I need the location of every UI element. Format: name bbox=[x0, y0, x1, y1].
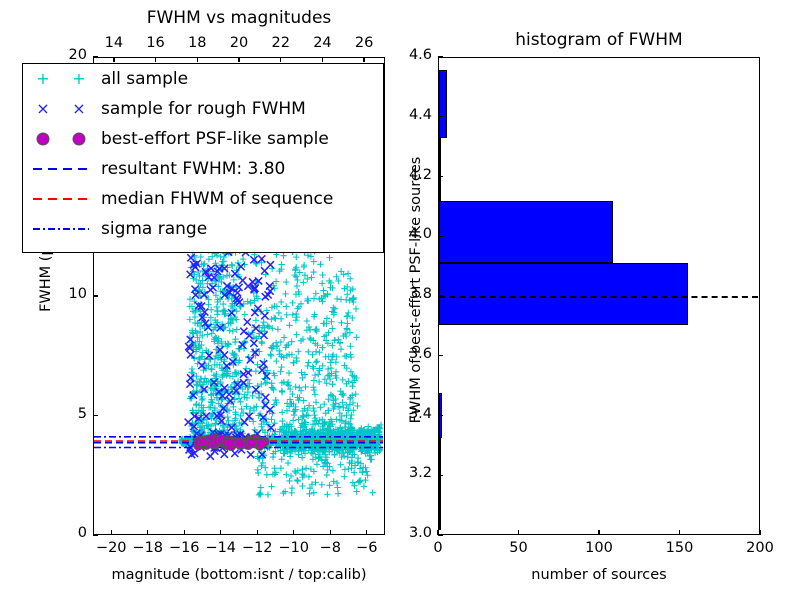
x-tick-top bbox=[363, 57, 364, 62]
right-panel-title: histogram of FWHM bbox=[438, 30, 760, 50]
x-tick-bottom bbox=[257, 530, 258, 535]
histogram-bar bbox=[439, 70, 447, 138]
histogram-bar bbox=[439, 138, 441, 200]
legend: ++all sample××sample for rough FWHMbest-… bbox=[22, 63, 384, 253]
legend-marker-circle-icon bbox=[23, 124, 101, 154]
legend-label: best-effort PSF-like sample bbox=[101, 124, 329, 154]
y-tick-right-panel bbox=[438, 116, 443, 117]
x-tick-label-top: 24 bbox=[300, 35, 344, 51]
y-tick-left bbox=[93, 534, 98, 535]
legend-glyph: + bbox=[36, 71, 49, 87]
x-tick-top bbox=[113, 57, 114, 62]
x-tick-bottom bbox=[184, 530, 185, 535]
y-tick-label-left: 0 bbox=[49, 525, 87, 541]
y-tick-label-right-panel: 3.0 bbox=[390, 525, 432, 541]
left-panel-title: FWHM vs magnitudes bbox=[93, 8, 385, 28]
y-tick-right-panel bbox=[438, 56, 443, 57]
x-tick-label-top: 14 bbox=[92, 35, 136, 51]
y-tick-label-right-panel: 4.0 bbox=[390, 226, 432, 242]
y-tick-right-panel bbox=[438, 176, 443, 177]
legend-glyph bbox=[37, 133, 50, 146]
histogram-bar bbox=[439, 438, 441, 530]
legend-label: sigma range bbox=[101, 214, 207, 244]
legend-marker-dashdot-line-icon bbox=[23, 214, 101, 244]
y-tick-label-right-panel: 3.4 bbox=[390, 406, 432, 422]
x-tick-label-right-panel: 200 bbox=[738, 540, 782, 556]
x-tick-label-right-panel: 100 bbox=[577, 540, 621, 556]
x-tick-top bbox=[280, 57, 281, 62]
y-tick-right-panel bbox=[438, 534, 443, 535]
x-tick-top bbox=[197, 57, 198, 62]
right-histogram-axes bbox=[438, 57, 760, 535]
x-tick-label-top: 16 bbox=[134, 35, 178, 51]
x-tick-right-panel bbox=[598, 530, 599, 535]
legend-glyph: × bbox=[72, 101, 85, 117]
x-tick-bottom bbox=[111, 530, 112, 535]
x-tick-top bbox=[238, 57, 239, 62]
y-tick-left bbox=[93, 56, 98, 57]
x-tick-label-right-panel: 0 bbox=[416, 540, 460, 556]
histogram-data-region bbox=[439, 58, 758, 533]
x-tick-bottom bbox=[147, 530, 148, 535]
x-tick-label-right-panel: 150 bbox=[658, 540, 702, 556]
legend-glyph: × bbox=[36, 101, 49, 117]
y-tick-right-panel bbox=[438, 236, 443, 237]
y-tick-left bbox=[93, 295, 98, 296]
x-tick-bottom bbox=[293, 530, 294, 535]
x-tick-label-top: 22 bbox=[259, 35, 303, 51]
x-tick-label-top: 20 bbox=[217, 35, 261, 51]
legend-item: resultant FWHM: 3.80 bbox=[23, 154, 383, 184]
left-xlabel: magnitude (bottom:isnt / top:calib) bbox=[93, 567, 385, 583]
x-tick-top bbox=[322, 57, 323, 62]
legend-marker-dashed-line-icon bbox=[23, 184, 101, 214]
legend-item: ++all sample bbox=[23, 64, 383, 94]
resultant-fwhm-line bbox=[439, 296, 758, 298]
legend-marker-cross-icon: ×× bbox=[23, 94, 101, 124]
y-tick-label-left: 10 bbox=[49, 286, 87, 302]
x-tick-bottom bbox=[366, 530, 367, 535]
y-tick-label-left: 5 bbox=[49, 406, 87, 422]
x-tick-label-bottom: −6 bbox=[345, 540, 389, 556]
legend-marker-dashed-line-icon bbox=[23, 154, 101, 184]
legend-item: median FHWM of sequence bbox=[23, 184, 383, 214]
y-tick-left bbox=[93, 415, 98, 416]
x-tick-label-right-panel: 50 bbox=[497, 540, 541, 556]
y-tick-right-panel bbox=[438, 355, 443, 356]
legend-item: best-effort PSF-like sample bbox=[23, 124, 383, 154]
legend-item: sigma range bbox=[23, 214, 383, 244]
y-tick-label-right-panel: 4.4 bbox=[390, 107, 432, 123]
legend-label: resultant FWHM: 3.80 bbox=[101, 154, 285, 184]
x-tick-right-panel bbox=[518, 530, 519, 535]
y-tick-right-panel bbox=[438, 415, 443, 416]
y-tick-label-right-panel: 4.2 bbox=[390, 167, 432, 183]
legend-label: all sample bbox=[101, 64, 188, 94]
legend-marker-plus-icon: ++ bbox=[23, 64, 101, 94]
x-tick-right-panel bbox=[759, 530, 760, 535]
legend-label: sample for rough FWHM bbox=[101, 94, 306, 124]
histogram-bar bbox=[439, 263, 688, 325]
right-xlabel: number of sources bbox=[438, 567, 760, 583]
y-tick-label-left: 20 bbox=[49, 47, 87, 63]
x-tick-right-panel bbox=[679, 530, 680, 535]
y-tick-label-right-panel: 4.6 bbox=[390, 47, 432, 63]
y-tick-label-right-panel: 3.6 bbox=[390, 346, 432, 362]
legend-glyph bbox=[73, 133, 86, 146]
y-tick-label-right-panel: 3.8 bbox=[390, 286, 432, 302]
histogram-bar bbox=[439, 201, 613, 263]
figure-canvas: FWHM vs magnitudes magnitude (bottom:isn… bbox=[0, 0, 800, 600]
x-tick-label-top: 18 bbox=[175, 35, 219, 51]
x-tick-bottom bbox=[220, 530, 221, 535]
legend-item: ××sample for rough FWHM bbox=[23, 94, 383, 124]
x-tick-label-top: 26 bbox=[342, 35, 386, 51]
y-tick-label-right-panel: 3.2 bbox=[390, 465, 432, 481]
legend-label: median FHWM of sequence bbox=[101, 184, 333, 214]
y-tick-right-panel bbox=[438, 295, 443, 296]
x-tick-top bbox=[155, 57, 156, 62]
x-tick-bottom bbox=[330, 530, 331, 535]
y-tick-right-panel bbox=[438, 475, 443, 476]
legend-glyph: + bbox=[72, 71, 85, 87]
